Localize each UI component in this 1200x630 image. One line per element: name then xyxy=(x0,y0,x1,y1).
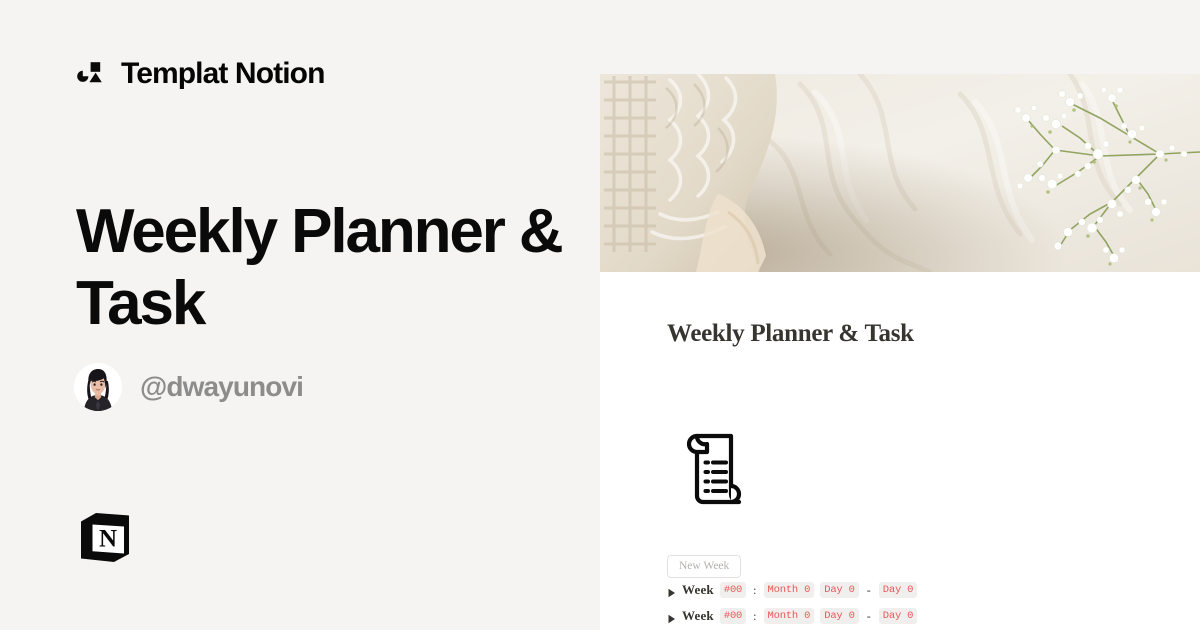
triangle-right-icon[interactable] xyxy=(667,611,676,621)
week-colon: : xyxy=(752,583,757,598)
cover-photo-knit-blanket-gypsophila xyxy=(600,74,1200,272)
template-preview-panel[interactable]: Weekly Planner & Task New Week Week #00 … xyxy=(600,74,1200,630)
week-day-start-code: Day 0 xyxy=(820,608,859,624)
week-number-code: #00 xyxy=(720,608,746,624)
week-day-start-code: Day 0 xyxy=(820,582,859,598)
week-label: Week xyxy=(682,582,714,598)
notion-page-body: Weekly Planner & Task New Week Week #00 … xyxy=(600,272,1200,630)
week-toggle-row[interactable]: Week #00 : Month 0 Day 0 - Day 0 xyxy=(667,608,917,624)
new-week-button[interactable]: New Week xyxy=(667,555,741,578)
week-dash: - xyxy=(865,583,873,598)
week-day-end-code: Day 0 xyxy=(879,608,918,624)
triangle-right-icon[interactable] xyxy=(667,585,676,595)
shapes-logo-icon xyxy=(76,59,106,89)
week-number-code: #00 xyxy=(720,582,746,598)
avatar xyxy=(74,363,122,411)
week-month-code: Month 0 xyxy=(764,608,815,624)
author: @dwayunovi xyxy=(74,363,303,411)
week-dash: - xyxy=(865,609,873,624)
week-colon: : xyxy=(752,609,757,624)
page-title: Weekly Planner & Task xyxy=(76,196,576,340)
week-label: Week xyxy=(682,608,714,624)
left-panel: Templat Notion Weekly Planner & Task xyxy=(0,0,600,630)
week-month-code: Month 0 xyxy=(764,582,815,598)
week-toggle-list: Week #00 : Month 0 Day 0 - Day 0 Week #0… xyxy=(667,582,917,624)
document-title: Weekly Planner & Task xyxy=(667,320,914,348)
notion-cube-logo: N xyxy=(76,508,134,566)
svg-text:N: N xyxy=(99,526,117,553)
author-handle: @dwayunovi xyxy=(140,371,303,403)
brand: Templat Notion xyxy=(76,57,325,91)
week-day-end-code: Day 0 xyxy=(879,582,918,598)
brand-name: Templat Notion xyxy=(121,57,325,91)
scroll-icon[interactable] xyxy=(677,427,757,507)
week-toggle-row[interactable]: Week #00 : Month 0 Day 0 - Day 0 xyxy=(667,582,917,598)
